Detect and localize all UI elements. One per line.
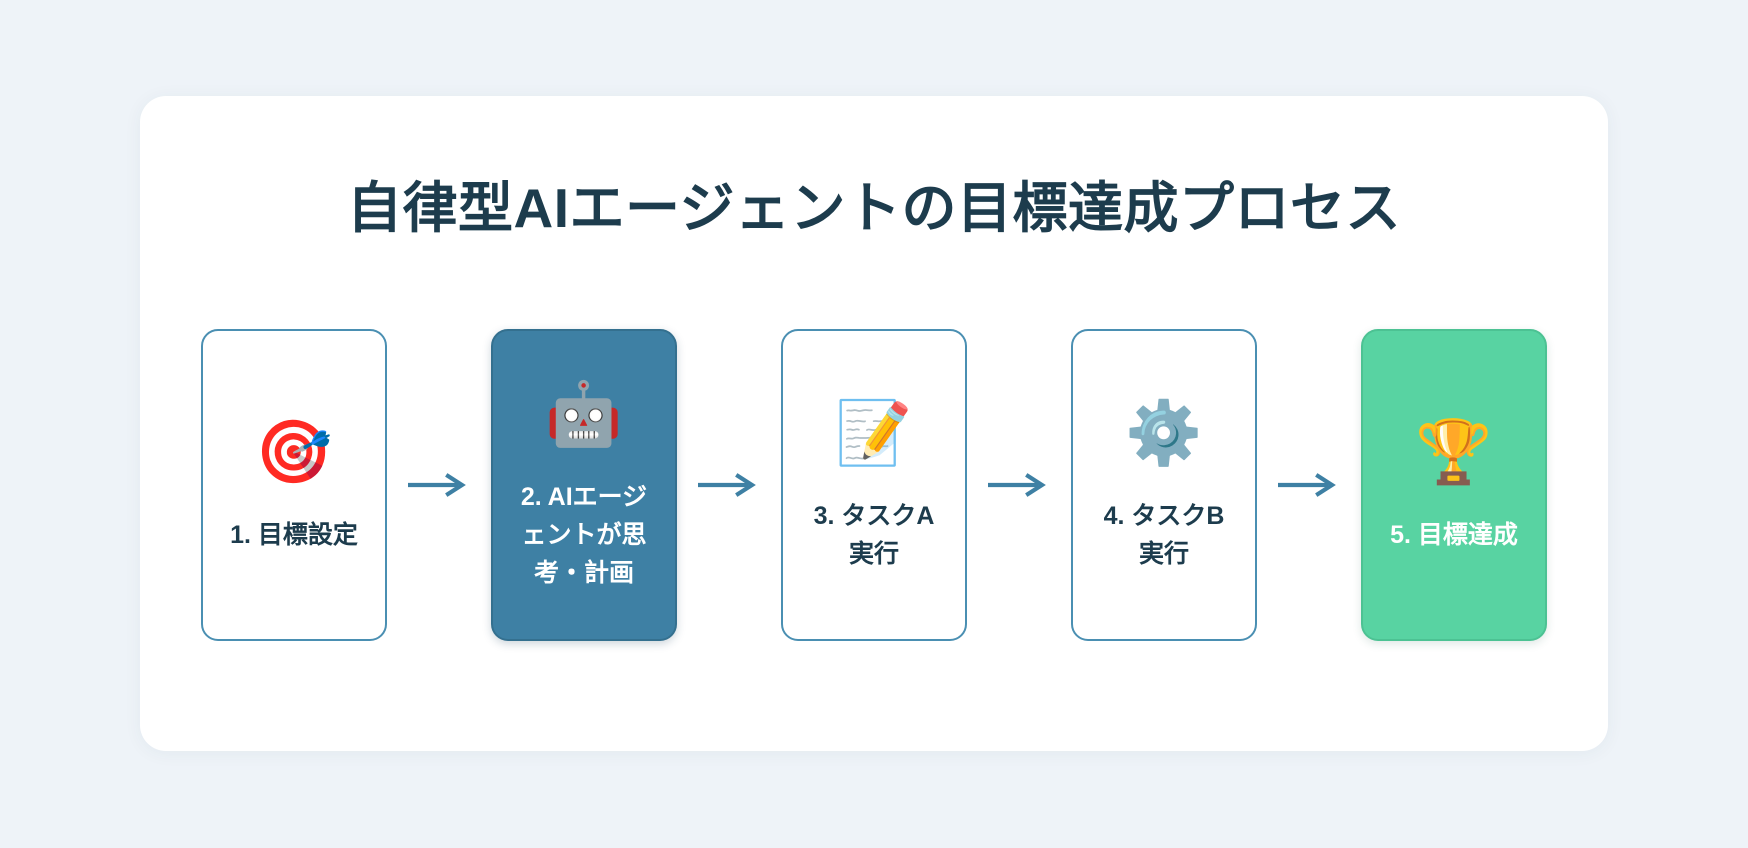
arrow-right-icon-4 — [1257, 465, 1361, 505]
process-step-3-label: 3. タスクA実行 — [804, 497, 944, 573]
gear-icon: ⚙️ — [1125, 397, 1202, 471]
process-step-1[interactable]: 🎯 1. 目標設定 — [201, 329, 387, 641]
process-step-4[interactable]: ⚙️ 4. タスクB実行 — [1071, 329, 1257, 641]
app-root: 自律型AIエージェントの目標達成プロセス 🎯 1. 目標設定 🤖 2. AIエー… — [0, 0, 1748, 848]
process-flow-row: 🎯 1. 目標設定 🤖 2. AIエージェントが思考・計画 — [186, 329, 1562, 641]
memo-pencil-icon: 📝 — [835, 397, 912, 471]
arrow-right-icon-3 — [967, 465, 1071, 505]
robot-icon: 🤖 — [545, 378, 622, 452]
process-step-5-label: 5. 目標達成 — [1384, 516, 1524, 554]
process-step-4-label: 4. タスクB実行 — [1094, 497, 1234, 573]
page-title: 自律型AIエージェントの目標達成プロセス — [347, 154, 1401, 241]
process-step-2[interactable]: 🤖 2. AIエージェントが思考・計画 — [491, 329, 677, 641]
process-step-5[interactable]: 🏆 5. 目標達成 — [1361, 329, 1547, 641]
process-step-2-label: 2. AIエージェントが思考・計画 — [514, 478, 654, 592]
diagram-container: 自律型AIエージェントの目標達成プロセス 🎯 1. 目標設定 🤖 2. AIエー… — [140, 96, 1608, 751]
arrow-right-icon-2 — [677, 465, 781, 505]
arrow-right-icon-1 — [387, 465, 491, 505]
process-step-3[interactable]: 📝 3. タスクA実行 — [781, 329, 967, 641]
dart-target-icon: 🎯 — [255, 416, 332, 490]
process-step-1-label: 1. 目標設定 — [224, 516, 364, 554]
trophy-icon: 🏆 — [1415, 416, 1492, 490]
